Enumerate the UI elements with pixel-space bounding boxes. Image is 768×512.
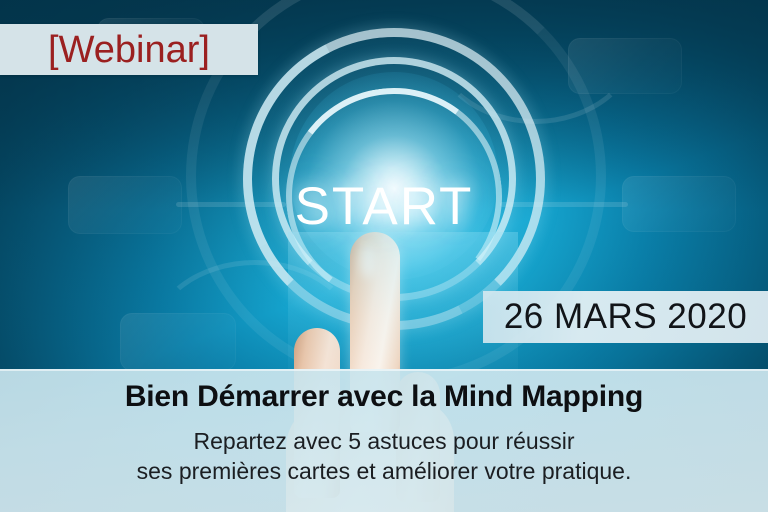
poster-subtitle: Repartez avec 5 astuces pour réussir ses… bbox=[0, 426, 768, 488]
poster-subtitle-line-1: Repartez avec 5 astuces pour réussir bbox=[0, 426, 768, 457]
footer-content: Bien Démarrer avec la Mind Mapping Repar… bbox=[0, 369, 768, 487]
poster-subtitle-line-2: ses premières cartes et améliorer votre … bbox=[0, 456, 768, 487]
poster-title: Bien Démarrer avec la Mind Mapping bbox=[0, 380, 768, 415]
start-button-label[interactable]: START bbox=[0, 176, 768, 237]
webinar-badge-label: [Webinar] bbox=[48, 31, 210, 69]
footer-panel: Bien Démarrer avec la Mind Mapping Repar… bbox=[0, 369, 768, 512]
date-banner: 26 MARS 2020 bbox=[483, 291, 768, 343]
webinar-badge: [Webinar] bbox=[0, 24, 258, 75]
webinar-poster: START [Webinar] 26 MARS 2020 Bien Démarr… bbox=[0, 0, 768, 512]
date-label: 26 MARS 2020 bbox=[504, 297, 747, 337]
